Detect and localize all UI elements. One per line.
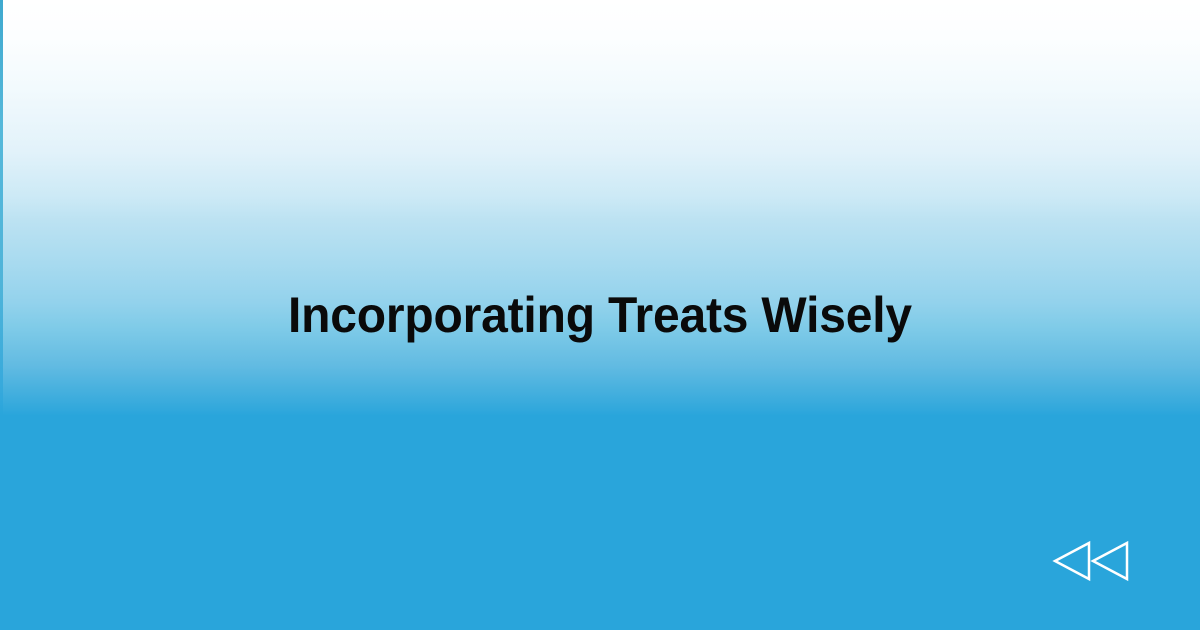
rewind-triangle-first-icon	[1055, 543, 1089, 579]
slide-canvas: Incorporating Treats Wisely	[0, 0, 1200, 630]
page-title: Incorporating Treats Wisely	[250, 288, 951, 343]
title-container: Incorporating Treats Wisely	[0, 0, 1200, 630]
rewind-triangle-second-icon	[1093, 543, 1127, 579]
rewind-icon[interactable]	[1052, 540, 1130, 582]
